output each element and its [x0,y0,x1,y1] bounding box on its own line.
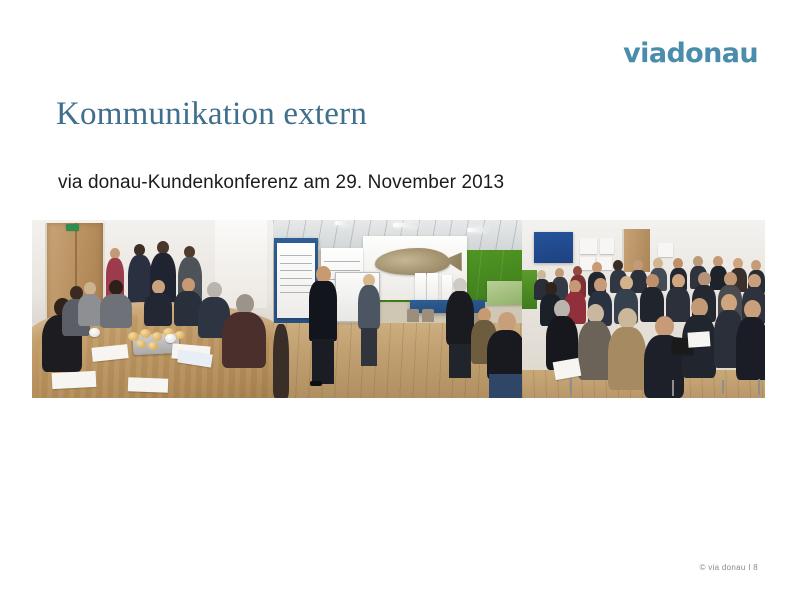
emergency-exit-sign [66,224,79,231]
photo-exhibition-hall [273,220,522,398]
photo-strip [32,220,765,398]
photo-seated-audience [522,220,765,398]
page-title: Kommunikation extern [56,96,367,132]
viadonau-logo: viadonau [623,40,758,67]
photo-round-table-meeting [32,220,273,398]
slide-subtitle: via donau-Kundenkonferenz am 29. Novembe… [58,172,504,194]
fish-illustration [375,248,450,275]
slide: viadonau Kommunikation extern via donau-… [0,0,800,600]
slide-footer: © via donau I 8 [700,563,758,572]
